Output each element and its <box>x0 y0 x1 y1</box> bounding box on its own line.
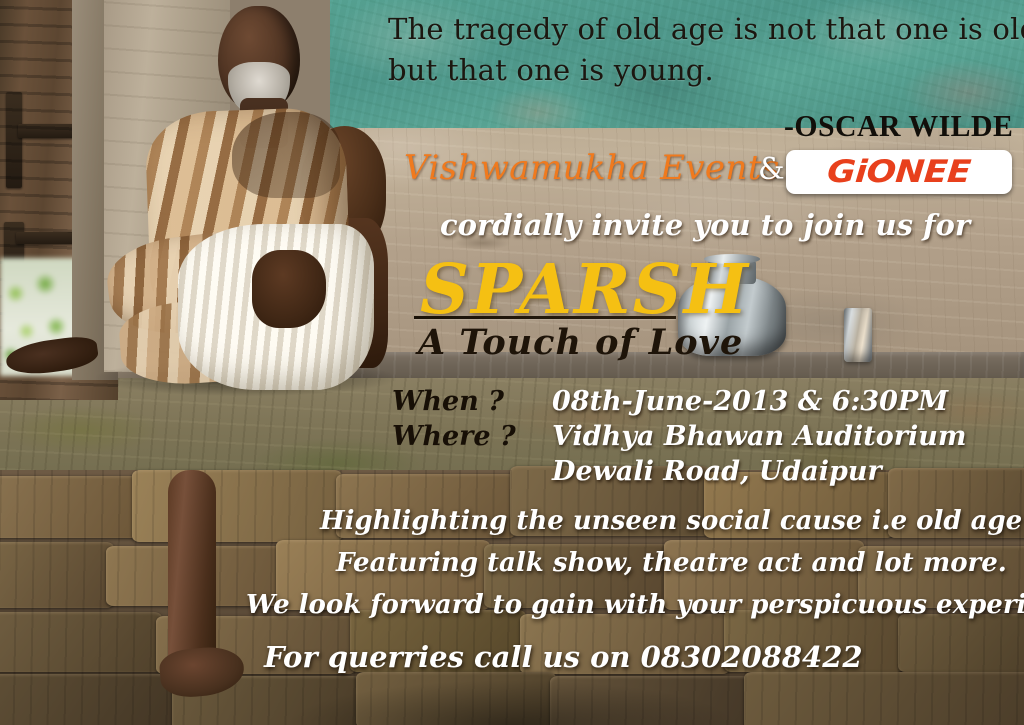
when-value: 08th-June-2013 & 6:30PM <box>552 386 948 417</box>
invitation-line: cordially invite you to join us for <box>440 208 970 242</box>
quote-line-1: The tragedy of old age is not that one i… <box>388 12 1024 46</box>
where-value-venue: Vidhya Bhawan Auditorium <box>552 421 966 452</box>
poster-canvas: The tragedy of old age is not that one i… <box>0 0 1024 725</box>
where-label: Where ? <box>392 421 516 452</box>
gionee-logo-text: GiONEE <box>826 154 972 190</box>
description-line-3: We look forward to gain with your perspi… <box>246 590 1024 620</box>
organizer-name: Vishwamukha Events <box>404 148 780 188</box>
gionee-logo: GiONEE <box>786 150 1012 194</box>
poster-text-overlay: The tragedy of old age is not that one i… <box>0 0 1024 725</box>
when-label: When ? <box>392 386 504 417</box>
quote-attribution: -OSCAR WILDE <box>784 108 1013 144</box>
quote-line-2: but that one is young. <box>388 53 714 87</box>
event-tagline: A Touch of Love <box>418 322 743 363</box>
title-divider-rule <box>414 316 676 319</box>
contact-line: For querries call us on 08302088422 <box>264 640 863 674</box>
description-line-1: Highlighting the unseen social cause i.e… <box>320 506 1022 536</box>
where-value-address: Dewali Road, Udaipur <box>552 456 882 487</box>
description-line-2: Featuring talk show, theatre act and lot… <box>336 548 1007 578</box>
ampersand-separator: & <box>758 152 785 187</box>
